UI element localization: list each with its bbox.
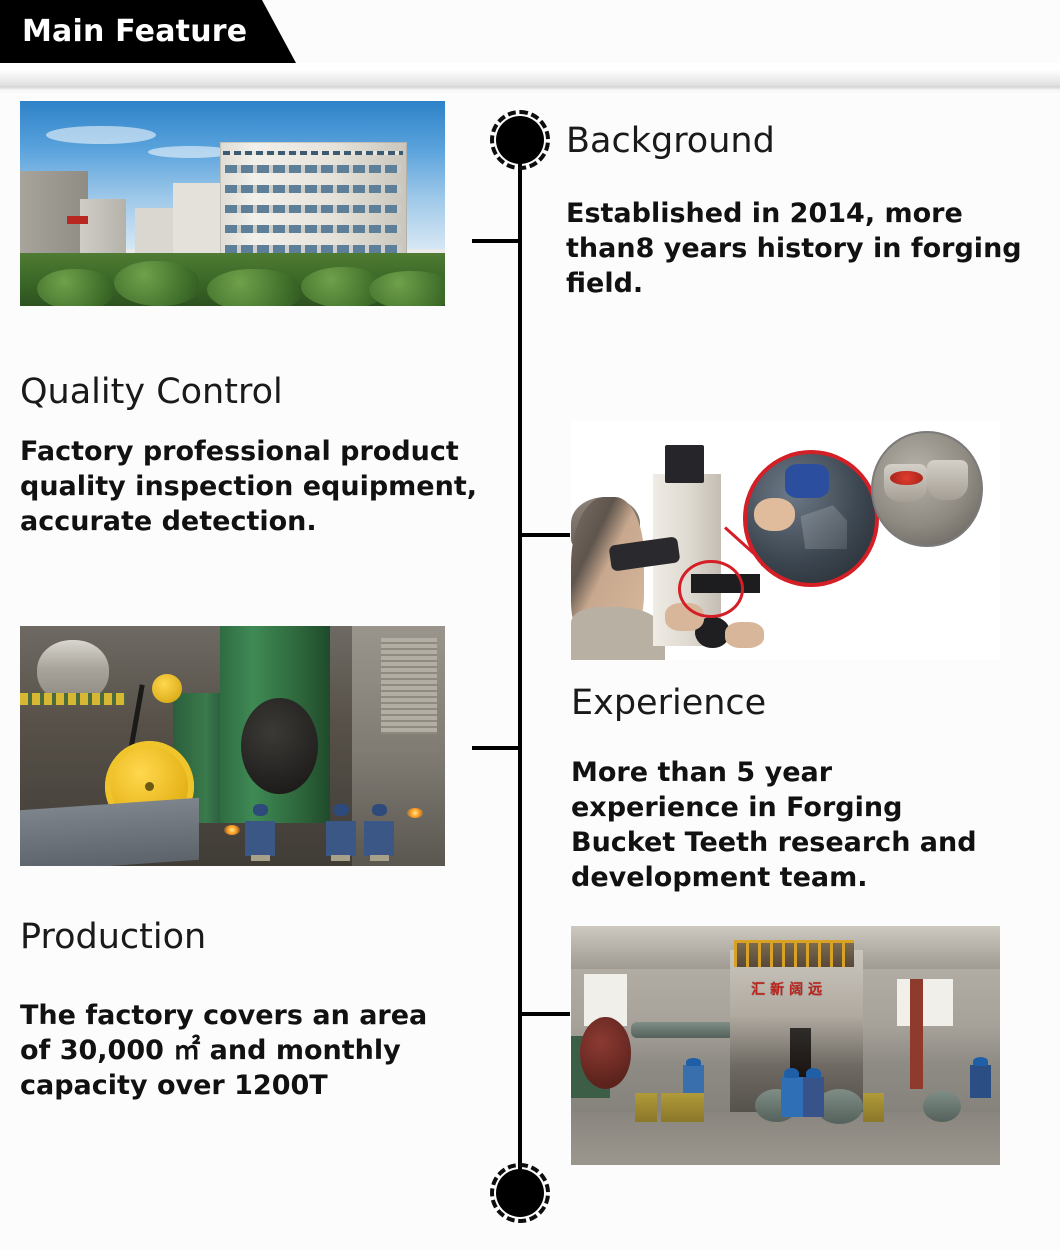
timeline-connector-production: [472, 746, 522, 750]
worker-figure: [364, 804, 394, 862]
worker-helmet: [784, 1068, 799, 1079]
red-flywheel: [580, 1017, 631, 1089]
section-body-experience: More than 5 year experience in Forging B…: [571, 755, 991, 895]
red-exhaust-pipe: [910, 979, 923, 1089]
machine-base: [20, 797, 199, 866]
callout-highlight-ring: [678, 560, 744, 619]
yellow-safety-rail: [20, 693, 126, 705]
furnace-pot: [927, 460, 968, 500]
timeline-connector-quality-control: [520, 533, 570, 537]
worker-helmet: [372, 804, 387, 817]
worker-torso: [364, 821, 394, 856]
window-row: [225, 185, 401, 193]
molten-metal-glow: [890, 471, 922, 486]
bucket-tooth-part: [801, 505, 847, 549]
header-divider-gradient: [0, 63, 1060, 93]
oil-barrel: [863, 1093, 884, 1122]
section-body-production: The factory covers an area of 30,000 ㎡ a…: [20, 998, 440, 1103]
page-title: Main Feature: [22, 14, 247, 50]
tree-canopy: [369, 271, 446, 306]
oil-barrel: [635, 1093, 656, 1122]
section-body-background: Established in 2014, more than8 years hi…: [566, 196, 1036, 301]
brick-texture: [381, 638, 436, 734]
operator-hand: [754, 498, 795, 532]
flywheel-hub: [145, 782, 154, 791]
worker-legs: [331, 855, 350, 861]
blue-fixture: [785, 464, 829, 498]
forging-hammer-workshop-photo: 汇新阔远: [571, 926, 1000, 1165]
worker-figure: [683, 1065, 704, 1094]
tree-canopy: [37, 269, 114, 306]
section-heading-quality-control: Quality Control: [20, 371, 283, 413]
section-heading-production: Production: [20, 916, 206, 958]
red-signboard: [67, 216, 88, 224]
left-building-secondary: [80, 199, 127, 261]
forging-press-line-photo: [20, 626, 445, 866]
worker-helmet: [686, 1058, 701, 1065]
quality-inspection-microscope-photo: [571, 421, 1000, 660]
worker-legs: [251, 855, 270, 861]
section-body-quality-control: Factory professional product quality ins…: [20, 434, 510, 539]
midground-building-a: [135, 208, 173, 259]
small-pulley: [152, 674, 182, 703]
timeline-connector-background: [472, 239, 522, 243]
timeline-connector-experience: [520, 1012, 570, 1016]
oil-barrel: [661, 1093, 682, 1122]
cylindrical-drum: [923, 1091, 962, 1122]
worker-helmet: [973, 1057, 988, 1066]
hot-billet-glow: [407, 808, 423, 818]
oil-barrel: [683, 1093, 704, 1122]
inspector-shoulder: [571, 607, 665, 660]
machine-marking-text: 汇新阔远: [751, 979, 827, 999]
section-heading-background: Background: [566, 120, 775, 162]
cloud-shape: [46, 126, 157, 144]
inspector-hand: [725, 622, 764, 648]
tree-canopy: [207, 269, 301, 306]
window-row: [225, 225, 401, 233]
worker-figure: [781, 1077, 802, 1118]
press-drum: [241, 698, 318, 794]
hammer-top-platform: [734, 940, 854, 967]
callout-bubble-furnace: [871, 431, 982, 547]
office-building-photo: [20, 101, 445, 306]
section-heading-experience: Experience: [571, 682, 766, 724]
callout-bubble-part-closeup: [743, 450, 880, 587]
timeline-start-node-icon: [496, 116, 544, 164]
timeline-end-node-icon: [496, 1169, 544, 1217]
worker-helmet: [333, 804, 348, 817]
worker-torso: [326, 821, 356, 856]
worker-figure: [803, 1077, 824, 1118]
conveyor-duct: [631, 1022, 734, 1039]
hot-billet-glow: [224, 825, 240, 835]
window-row: [225, 165, 401, 173]
microscope-camera-tube: [665, 445, 704, 483]
worker-legs: [370, 855, 389, 861]
worker-figure: [245, 804, 275, 862]
worker-torso: [245, 821, 275, 856]
window-band: [223, 151, 403, 155]
worker-helmet: [806, 1068, 821, 1079]
worker-figure: [326, 804, 356, 862]
timeline-vertical-line: [518, 140, 522, 1195]
worker-helmet: [253, 804, 268, 817]
worker-figure: [970, 1065, 991, 1098]
wall-window: [897, 979, 953, 1027]
midground-building-b: [173, 183, 220, 259]
window-row: [225, 205, 401, 213]
